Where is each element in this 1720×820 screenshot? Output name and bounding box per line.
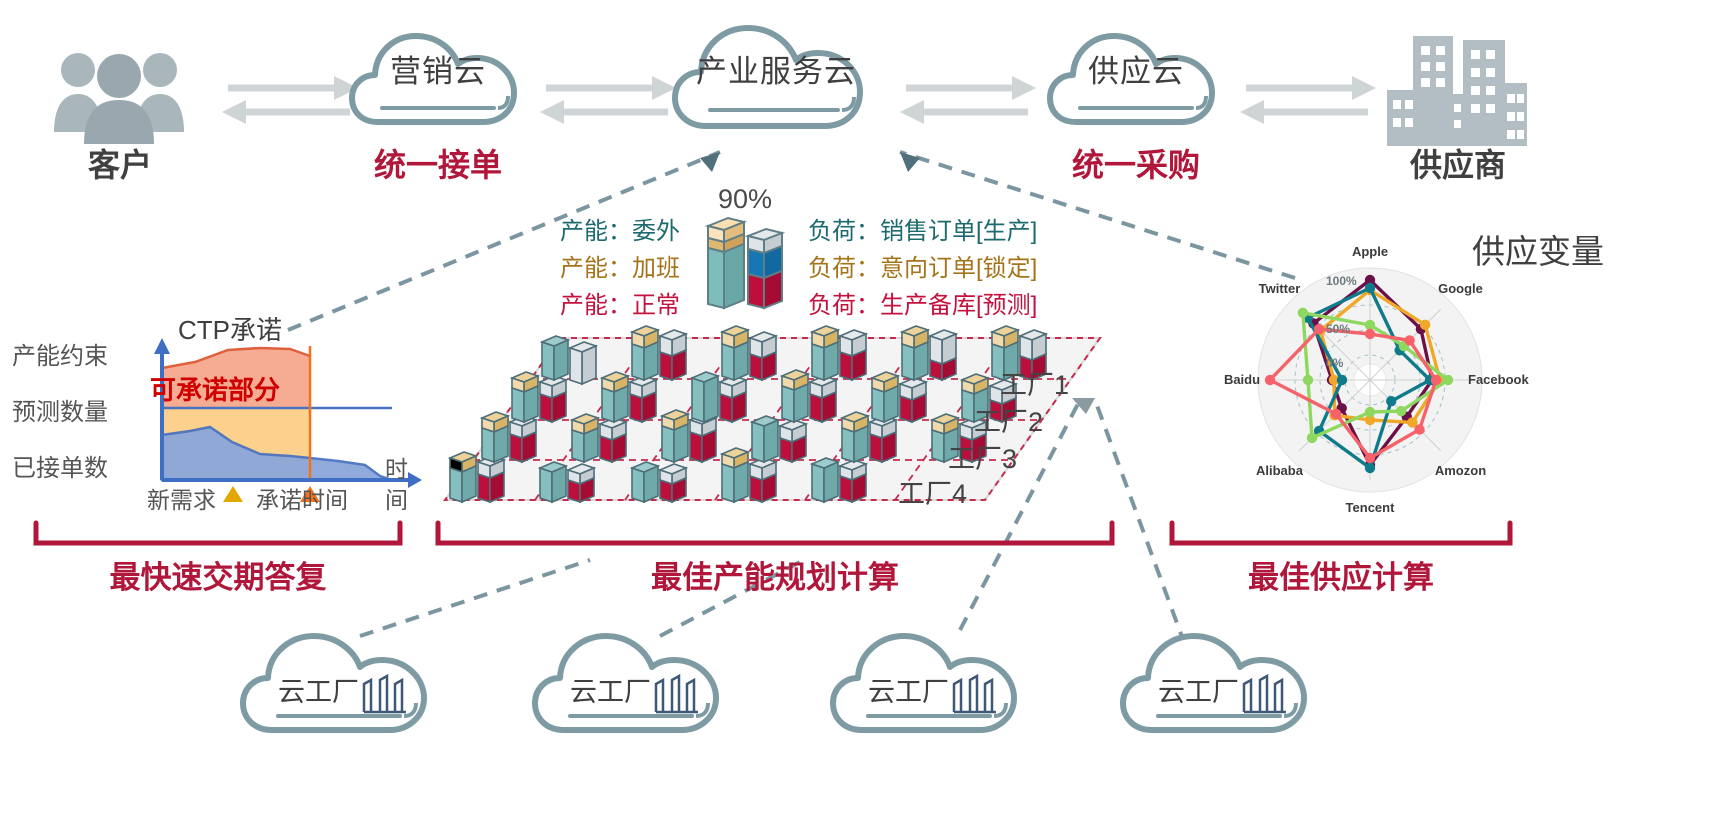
radar-axis-label-5: Alibaba (1249, 463, 1309, 478)
ctp-marker-0-label: 新需求 (147, 481, 216, 515)
cloud-factory-3-label: 云工厂 (1158, 670, 1239, 709)
ctp-marker-1-label: 承诺时间 (256, 481, 348, 515)
ctp-band-label: 可承诺部分 (150, 370, 280, 407)
ctp-ylabel-0: 产能约束 (12, 336, 108, 371)
radar-axis-label-2: Facebook (1468, 372, 1528, 387)
legend-left-1: 产能：加班 (560, 248, 680, 283)
factory-label-2: 工厂3 (948, 437, 1017, 476)
legend-right-2: 负荷：生产备库[预测] (808, 285, 1037, 320)
radar-axis-label-4: Tencent (1340, 500, 1400, 515)
cloud-factory-1-label: 云工厂 (570, 670, 651, 709)
ctp-ylabel-1: 预测数量 (12, 392, 108, 427)
radar-ring-label-0: 0% (1326, 356, 1343, 370)
legend-left-0: 产能：委外 (560, 211, 680, 246)
radar-ring-label-2: 100% (1326, 274, 1357, 288)
cloud-factory-2[interactable]: 云工厂 (828, 628, 1038, 738)
ctp-xlabel-line-1: 间 (385, 481, 408, 515)
section-title-0: 最快速交期答复 (36, 552, 400, 597)
legend-left-2: 产能：正常 (560, 285, 680, 320)
ctp-xlabel-line-0: 时 (385, 450, 408, 484)
radar-axis-label-1: Google (1431, 281, 1491, 296)
cloud-factory-2-label: 云工厂 (868, 670, 949, 709)
cloud-factory-3[interactable]: 云工厂 (1118, 628, 1328, 738)
legend-3d-bars (700, 204, 800, 314)
section-title-2: 最佳供应计算 (1172, 552, 1510, 597)
radar-axis-label-6: Baidu (1212, 372, 1272, 387)
ctp-ylabel-2: 已接单数 (12, 448, 108, 483)
radar-axis-label-3: Amozon (1431, 463, 1491, 478)
cloud-factory-0[interactable]: 云工厂 (238, 628, 448, 738)
cloud-factory-1[interactable]: 云工厂 (530, 628, 740, 738)
legend-right-1: 负荷：意向订单[锁定] (808, 248, 1037, 283)
section-brackets (0, 515, 1720, 555)
factory-label-0: 工厂1 (1000, 363, 1069, 402)
factory-label-1: 工厂2 (974, 400, 1043, 439)
factory-label-3: 工厂4 (898, 472, 967, 511)
radar-axis-label-7: Twitter (1249, 281, 1309, 296)
section-title-1: 最佳产能规划计算 (438, 552, 1112, 597)
legend-right-0: 负荷：销售订单[生产] (808, 211, 1037, 246)
radar-ring-label-1: 50% (1326, 322, 1350, 336)
radar-axis-label-0: Apple (1340, 244, 1400, 259)
radar-title: 供应变量 (1408, 225, 1668, 273)
cloud-factory-0-label: 云工厂 (278, 670, 359, 709)
supply-radar-chart: AppleGoogleFacebookAmozonTencentAlibabaB… (1220, 250, 1520, 510)
